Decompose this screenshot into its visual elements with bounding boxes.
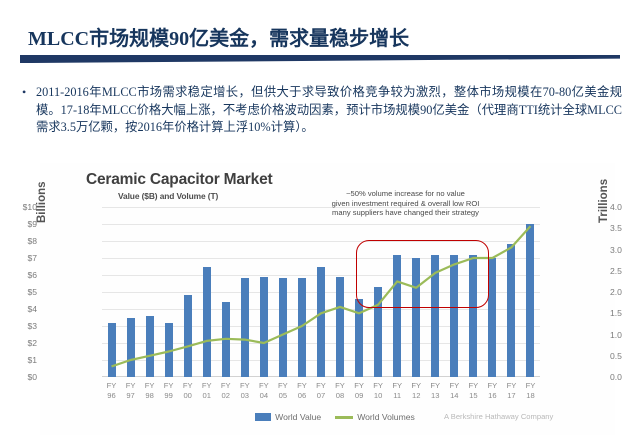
x-axis-label: FY11 [387,381,407,400]
bullet-list: • 2011-2016年MLCC市场需求稳定增长，但供大于求导致价格竞争较为激烈… [22,84,622,137]
y-axis-tick-right: 3.0 [610,245,640,255]
y-axis-tick-left: $0 [0,372,37,382]
x-axis-labels: FY96FY97FY98FY99FY00FY01FY02FY03FY04FY05… [102,381,540,411]
y-axis-tick-right: 2.0 [610,287,640,297]
y-axis-tick-left: $1 [0,355,37,365]
bullet-marker: • [22,84,36,137]
x-axis-label: FY96 [102,381,122,400]
x-axis-label: FY12 [406,381,426,400]
annotation-line-2: given investment required & overall low … [298,199,513,209]
y-axis-tick-right: 1.0 [610,330,640,340]
chart-title: Ceramic Capacitor Market [86,171,272,189]
title-divider [20,55,620,63]
y-axis-tick-right: 0.5 [610,351,640,361]
y-axis-tick-left: $9 [0,219,37,229]
x-axis-label: FY03 [235,381,255,400]
x-axis-label: FY99 [159,381,179,400]
annotation-line-1: ~50% volume increase for no value [298,189,513,199]
y-axis-tick-left: $5 [0,287,37,297]
y-axis-tick-left: $3 [0,321,37,331]
x-axis-label: FY98 [140,381,160,400]
x-axis-label: FY01 [197,381,217,400]
bullet-item-text: 2011-2016年MLCC市场需求稳定增长，但供大于求导致价格竞争较为激烈，整… [36,84,622,137]
x-axis-label: FY10 [368,381,388,400]
x-axis-label: FY09 [349,381,369,400]
x-axis-label: FY04 [254,381,274,400]
x-axis-label: FY06 [292,381,312,400]
y-axis-tick-right: 4.0 [610,202,640,212]
x-axis-label: FY05 [273,381,293,400]
chart-annotation: ~50% volume increase for no value given … [298,189,513,218]
x-axis-label: FY17 [501,381,521,400]
slide-root: MLCC市场规模90亿美金，需求量稳步增长 • 2011-2016年MLCC市场… [0,0,640,439]
line-swatch-icon [335,416,353,419]
y-axis-tick-right: 3.5 [610,223,640,233]
x-axis-label: FY18 [520,381,540,400]
y-axis-tick-right: 0.0 [610,372,640,382]
y-axis-tick-left: $2 [0,338,37,348]
x-axis-label: FY08 [330,381,350,400]
legend-item-world-volumes: World Volumes [335,412,415,422]
x-axis-label: FY02 [216,381,236,400]
x-axis-label: FY14 [444,381,464,400]
annotation-line-3: many suppliers have changed their strate… [298,208,513,218]
y-axis-tick-right: 1.5 [610,308,640,318]
x-axis-label: FY15 [463,381,483,400]
legend-label-world-value: World Value [275,412,321,422]
x-axis-label: FY97 [121,381,141,400]
y-axis-title-left: Billions [36,181,48,223]
highlight-box [356,240,489,308]
y-axis-tick-left: $7 [0,253,37,263]
y-axis-tick-left: $8 [0,236,37,246]
chart-image: Ceramic Capacitor Market Value ($B) and … [40,163,615,435]
y-axis-tick-left: $4 [0,304,37,314]
x-axis-label: FY00 [178,381,198,400]
y-axis-tick-left: $10 [0,202,37,212]
legend-item-world-value: World Value [255,412,321,422]
x-axis-label: FY07 [311,381,331,400]
chart-legend: World Value World Volumes [210,410,460,424]
chart-footer-note: A Berkshire Hathaway Company [444,412,614,421]
y-axis-tick-left: $6 [0,270,37,280]
page-title: MLCC市场规模90亿美金，需求量稳步增长 [28,22,608,51]
bar-swatch-icon [255,413,271,421]
x-axis-label: FY13 [425,381,445,400]
y-axis-title-right: Trillions [598,179,610,223]
y-axis-tick-right: 2.5 [610,266,640,276]
legend-label-world-volumes: World Volumes [357,412,415,422]
chart-subtitle: Value ($B) and Volume (T) [118,191,218,201]
x-axis-label: FY16 [482,381,502,400]
